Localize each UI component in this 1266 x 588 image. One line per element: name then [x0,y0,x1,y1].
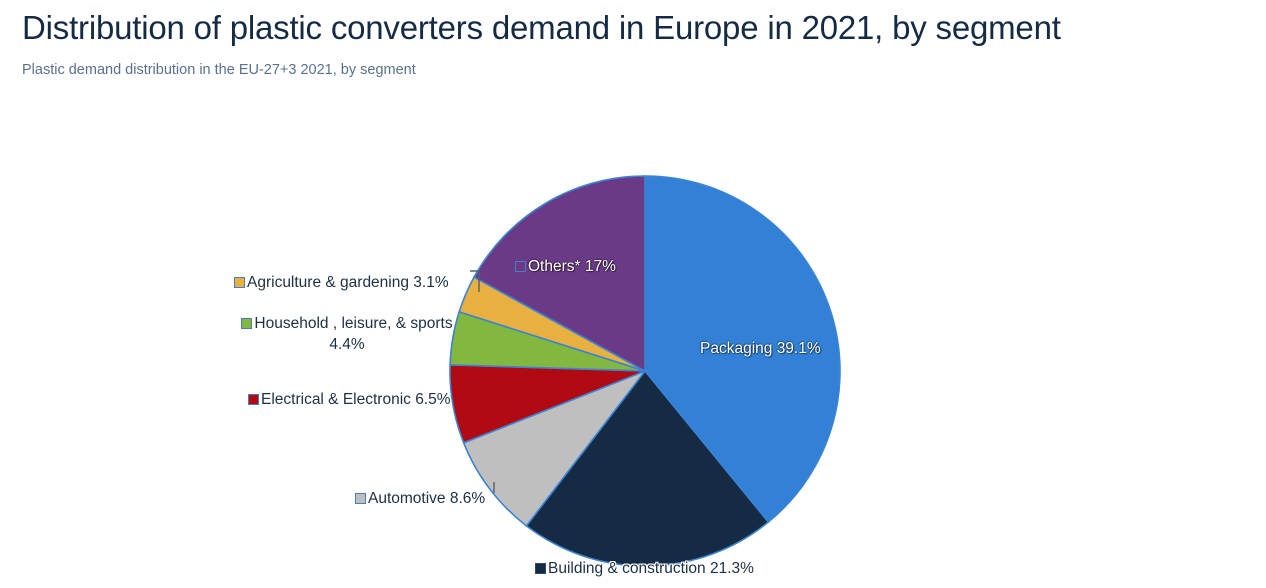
pie-label-building: Building & construction 21.3% [535,558,754,579]
agriculture-swatch-icon [234,277,245,288]
pie-label-automotive-text: Automotive 8.6% [368,490,485,507]
pie-label-packaging-text: Packaging 39.1% [700,340,821,357]
building-swatch-icon [535,563,546,574]
pie-label-electrical-text: Electrical & Electronic 6.5% [261,391,451,408]
pie-label-automotive: Automotive 8.6% [355,488,485,509]
pie-label-household: Household , leisure, & sports 4.4% [232,313,462,355]
automotive-swatch-icon [355,493,366,504]
pie-chart-plot-area: Packaging 39.1% Others* 17% Agriculture … [0,0,1266,588]
pie-label-household-text-line2: 4.4% [232,334,462,355]
electrical-swatch-icon [248,394,259,405]
pie-label-others-text: Others* 17% [528,258,616,275]
pie-label-building-text: Building & construction 21.3% [548,560,754,577]
pie-slice-group [450,176,840,566]
pie-label-electrical: Electrical & Electronic 6.5% [248,389,451,410]
pie-label-agriculture-text: Agriculture & gardening 3.1% [247,274,449,291]
pie-label-others: Others* 17% [515,256,616,277]
pie-label-packaging: Packaging 39.1% [700,338,821,359]
household-swatch-icon [241,318,252,329]
others-swatch-icon [515,261,526,272]
pie-chart-svg [0,0,1266,588]
pie-label-agriculture: Agriculture & gardening 3.1% [234,272,449,293]
pie-label-household-text-line1: Household , leisure, & sports [254,315,452,332]
